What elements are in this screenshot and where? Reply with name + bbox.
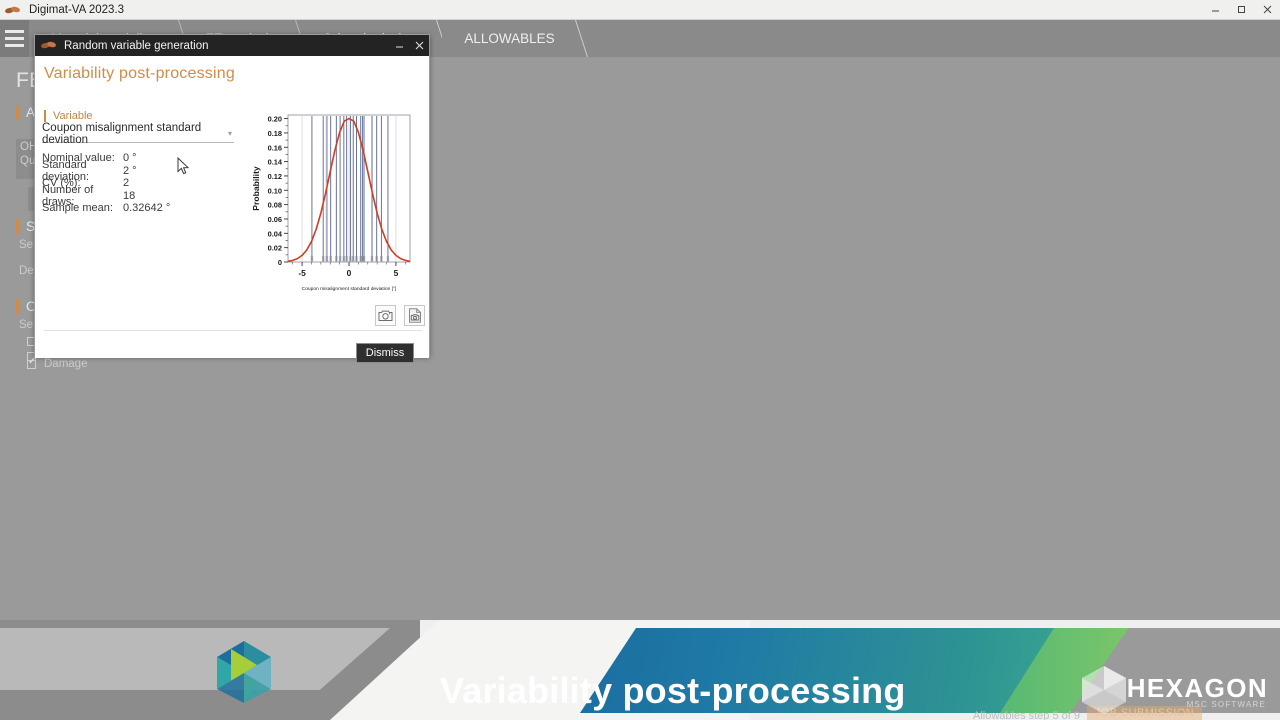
svg-text:0.04: 0.04 <box>268 229 283 238</box>
svg-text:0.02: 0.02 <box>268 244 282 253</box>
banner-step-footnote: Allowables step 5 of 9 <box>973 710 1080 720</box>
save-image-icon[interactable] <box>404 305 425 326</box>
variable-select[interactable]: Coupon misalignment standard deviation ▾ <box>42 125 234 143</box>
camera-icon[interactable] <box>375 305 396 326</box>
hexagon-logo <box>213 635 275 707</box>
window-minimize-button[interactable] <box>1202 0 1228 20</box>
property-value: 0 ° <box>123 152 137 164</box>
svg-text:Coupon misalignment standard d: Coupon misalignment standard deviation [… <box>302 286 397 292</box>
dialog-divider <box>44 330 422 331</box>
window-maximize-button[interactable] <box>1228 0 1254 20</box>
property-value: 18 <box>123 190 135 202</box>
window-title: Digimat-VA 2023.3 <box>29 4 124 16</box>
mouse-cursor <box>177 157 190 176</box>
svg-text:0.06: 0.06 <box>268 215 282 224</box>
dialog-titlebar[interactable]: Random variable generation <box>35 35 429 56</box>
variable-select-value: Coupon misalignment standard deviation <box>42 122 228 146</box>
svg-text:0.10: 0.10 <box>268 186 282 195</box>
svg-text:5: 5 <box>394 268 399 278</box>
svg-text:0.16: 0.16 <box>268 143 282 152</box>
hexagon-subbrand: MSC SOFTWARE <box>1187 700 1266 709</box>
svg-text:0.08: 0.08 <box>268 201 282 210</box>
menu-icon[interactable] <box>0 20 29 57</box>
svg-text:0.20: 0.20 <box>268 115 282 124</box>
svg-text:0.14: 0.14 <box>268 158 283 167</box>
breadcrumb-allowables[interactable]: ALLOWABLES <box>442 20 580 57</box>
banner-title: Variability post-processing <box>440 670 906 712</box>
output-checkbox-damage[interactable] <box>27 360 36 369</box>
hexagon-mark-icon <box>1076 664 1132 716</box>
svg-text:Probability: Probability <box>251 166 261 211</box>
property-value: 2 <box>123 177 129 189</box>
property-row: Standard deviation: 2 ° <box>42 165 170 178</box>
svg-text:0: 0 <box>278 258 282 267</box>
property-key: Sample mean: <box>42 202 123 214</box>
property-row: Number of draws: 18 <box>42 190 170 203</box>
svg-text:0.12: 0.12 <box>268 172 282 181</box>
bottom-banner: Variability post-processing Allowables s… <box>0 620 1280 720</box>
dialog-minimize-button[interactable] <box>389 35 409 56</box>
svg-text:-5: -5 <box>298 268 306 278</box>
random-variable-generation-dialog: Random variable generation Variability p… <box>34 34 430 357</box>
window-titlebar: Digimat-VA 2023.3 <box>0 0 1280 20</box>
property-value: 0.32642 ° <box>123 202 170 214</box>
app-root: Digimat-VA 2023.3 Material modeling FE a… <box>0 0 1280 720</box>
dialog-body: Variability post-processing Variable Cou… <box>35 56 429 358</box>
variable-group-label: Variable <box>44 110 93 122</box>
property-row: Sample mean: 0.32642 ° <box>42 202 170 215</box>
chart-canvas: 00.020.040.060.080.100.120.140.160.180.2… <box>248 109 418 297</box>
dialog-heading: Variability post-processing <box>44 65 235 83</box>
chart-toolbar <box>375 305 425 326</box>
svg-text:0.18: 0.18 <box>268 129 282 138</box>
window-close-button[interactable] <box>1254 0 1280 20</box>
chevron-down-icon: ▾ <box>228 129 232 138</box>
digimat-icon <box>40 39 58 52</box>
property-value: 2 ° <box>123 165 137 177</box>
dialog-title: Random variable generation <box>64 40 208 52</box>
dismiss-button[interactable]: Dismiss <box>356 343 414 363</box>
breadcrumb-label: ALLOWABLES <box>464 31 554 46</box>
svg-text:0: 0 <box>347 268 352 278</box>
dialog-close-button[interactable] <box>409 35 429 56</box>
variable-properties-table: Nominal value: 0 ° Standard deviation: 2… <box>42 152 170 215</box>
probability-distribution-chart: 00.020.040.060.080.100.120.140.160.180.2… <box>248 109 418 297</box>
digimat-icon <box>4 3 22 17</box>
output-checkbox-damage-label: Damage <box>44 358 87 370</box>
